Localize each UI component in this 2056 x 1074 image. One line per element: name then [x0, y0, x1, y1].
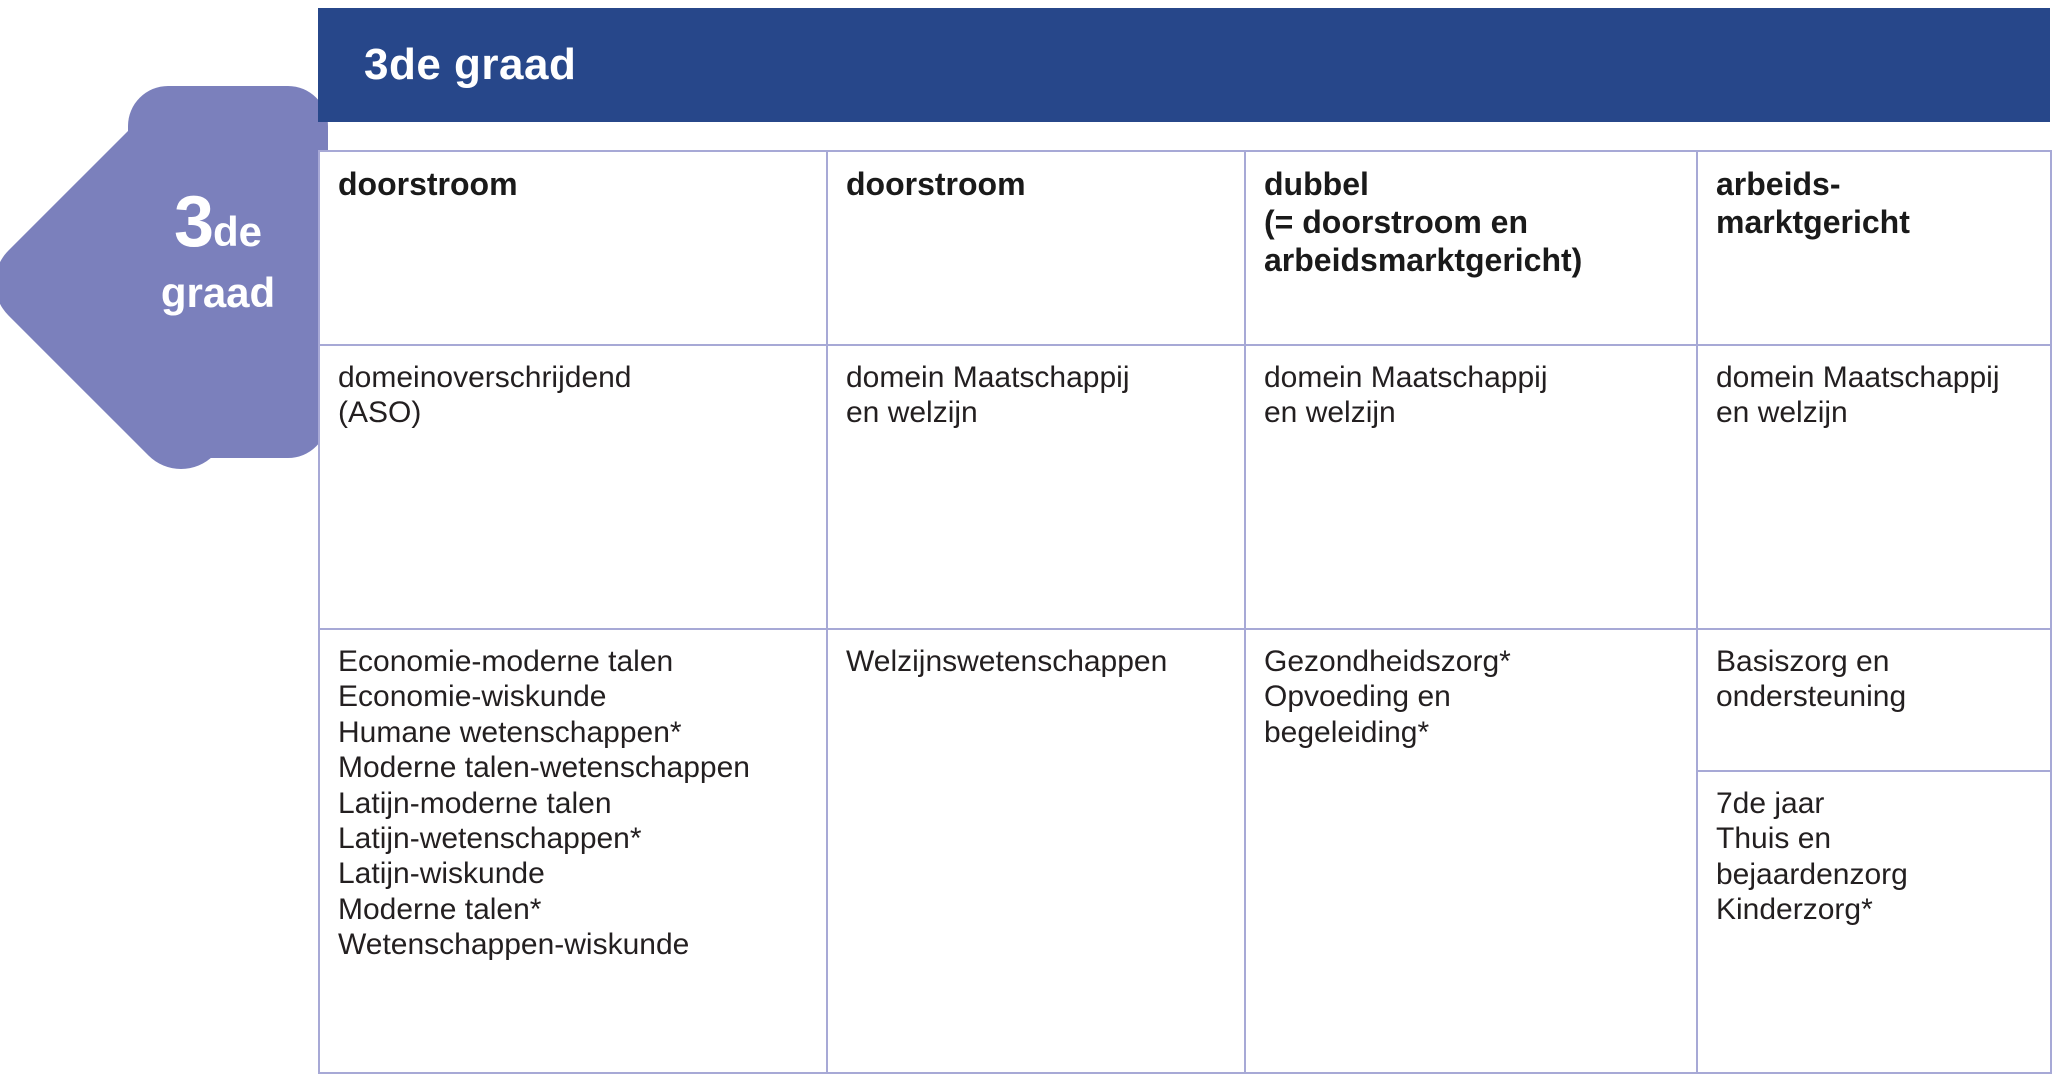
subject-cell-4: Basiszorg en ondersteuning 7de jaar Thui…	[1697, 629, 2051, 1073]
header-line: marktgericht	[1716, 204, 2032, 242]
domain-line: en welzijn	[1264, 395, 1678, 430]
subject-item: Moderne talen-wetenschappen	[338, 750, 808, 785]
subject-item: Wetenschappen-wiskunde	[338, 927, 808, 962]
grade-options-table: doorstroom doorstroom dubbel (= doorstro…	[318, 150, 2052, 1074]
header-line: arbeids-	[1716, 166, 2032, 204]
subject-item: Moderne talen*	[338, 892, 808, 927]
domain-line: domein Maatschappij	[1264, 360, 1678, 395]
subject-item: Latijn-moderne talen	[338, 786, 808, 821]
domain-cell-4: domein Maatschappij en welzijn	[1697, 345, 2051, 629]
subject-item: Basiszorg en	[1716, 644, 2032, 679]
subject-cell-4-top: Basiszorg en ondersteuning	[1698, 630, 2050, 772]
domain-line: domeinoverschrijdend	[338, 360, 808, 395]
subject-item: 7de jaar	[1716, 786, 2032, 821]
subject-item: begeleiding*	[1264, 715, 1678, 750]
header-cell-arbeidsmarktgericht: arbeids- marktgericht	[1697, 151, 2051, 345]
badge-body-shape	[128, 86, 328, 458]
subject-cell-3: Gezondheidszorg* Opvoeding en begeleidin…	[1245, 629, 1697, 1073]
domain-cell-2: domein Maatschappij en welzijn	[827, 345, 1245, 629]
header-line: (= doorstroom en	[1264, 204, 1678, 242]
subject-item: bejaardenzorg	[1716, 857, 2032, 892]
domain-cell-1: domeinoverschrijdend (ASO)	[319, 345, 827, 629]
domain-line: en welzijn	[846, 395, 1226, 430]
subject-item: Kinderzorg*	[1716, 892, 2032, 927]
subject-item: Latijn-wetenschappen*	[338, 821, 808, 856]
header-cell-dubbel: dubbel (= doorstroom en arbeidsmarktgeri…	[1245, 151, 1697, 345]
subject-item: Humane wetenschappen*	[338, 715, 808, 750]
page-title: 3de graad	[364, 40, 576, 90]
grade-badge: 3de graad	[8, 78, 320, 488]
header-cell-doorstroom-1: doorstroom	[319, 151, 827, 345]
table-domain-row: domeinoverschrijdend (ASO) domein Maatsc…	[319, 345, 2051, 629]
table-header-row: doorstroom doorstroom dubbel (= doorstro…	[319, 151, 2051, 345]
domain-line: en welzijn	[1716, 395, 2032, 430]
header-line: doorstroom	[846, 166, 1226, 204]
subject-item: Thuis en	[1716, 821, 2032, 856]
domain-line: (ASO)	[338, 395, 808, 430]
header-line: dubbel	[1264, 166, 1678, 204]
domain-line: domein Maatschappij	[846, 360, 1226, 395]
subject-item: Latijn-wiskunde	[338, 856, 808, 891]
domain-cell-3: domein Maatschappij en welzijn	[1245, 345, 1697, 629]
subject-cell-2: Welzijnswetenschappen	[827, 629, 1245, 1073]
header-line: arbeidsmarktgericht)	[1264, 242, 1678, 280]
domain-line: domein Maatschappij	[1716, 360, 2032, 395]
subject-item: ondersteuning	[1716, 679, 2032, 714]
subject-cell-1: Economie-moderne talen Economie-wiskunde…	[319, 629, 827, 1073]
header-line: doorstroom	[338, 166, 808, 204]
header-cell-doorstroom-2: doorstroom	[827, 151, 1245, 345]
table-subject-row: Economie-moderne talen Economie-wiskunde…	[319, 629, 2051, 1073]
subject-item: Gezondheidszorg*	[1264, 644, 1678, 679]
subject-item: Economie-wiskunde	[338, 679, 808, 714]
subject-item: Economie-moderne talen	[338, 644, 808, 679]
subject-item: Opvoeding en	[1264, 679, 1678, 714]
subject-item: Welzijnswetenschappen	[846, 644, 1226, 679]
subject-cell-4-bottom: 7de jaar Thuis en bejaardenzorg Kinderzo…	[1698, 772, 2050, 1048]
title-bar: 3de graad	[318, 8, 2050, 122]
